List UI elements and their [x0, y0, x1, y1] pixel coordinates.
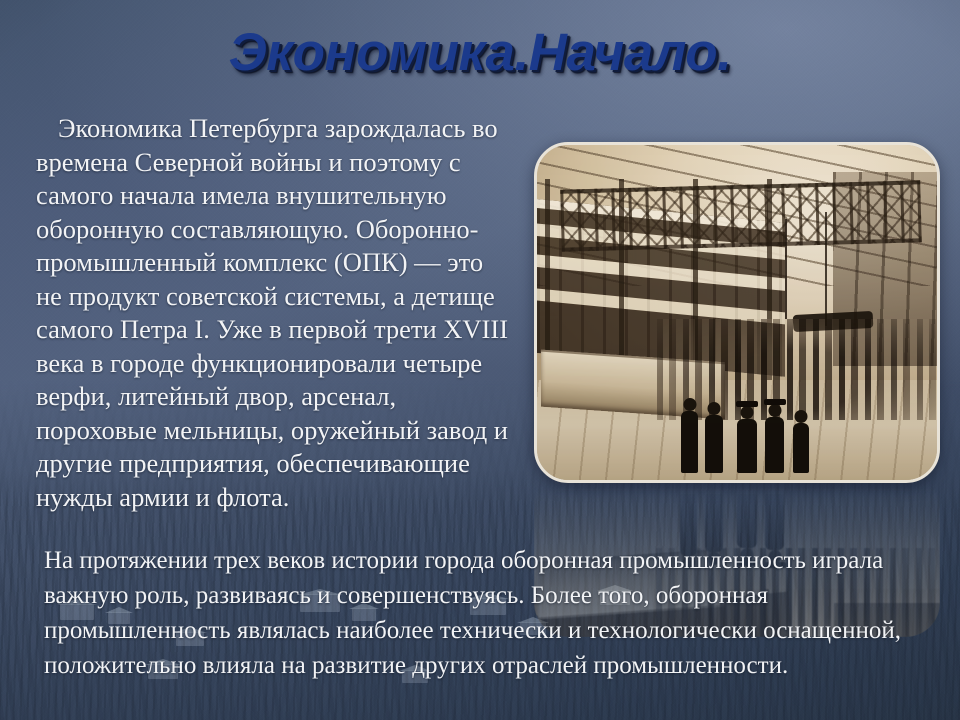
historical-factory-hall-photo — [534, 142, 940, 483]
historical-photo-frame — [534, 142, 940, 483]
photo-sepia-layer — [537, 145, 937, 480]
slide-title: Экономика.Начало. — [0, 22, 960, 83]
body-paragraph-left: Экономика Петербурга зарождалась во врем… — [36, 112, 514, 514]
body-paragraph-bottom: На протяжении трех веков истории города … — [44, 543, 924, 683]
photo-content — [537, 145, 937, 480]
presentation-slide: Экономика.Начало. Экономика Петербурга з… — [0, 0, 960, 720]
